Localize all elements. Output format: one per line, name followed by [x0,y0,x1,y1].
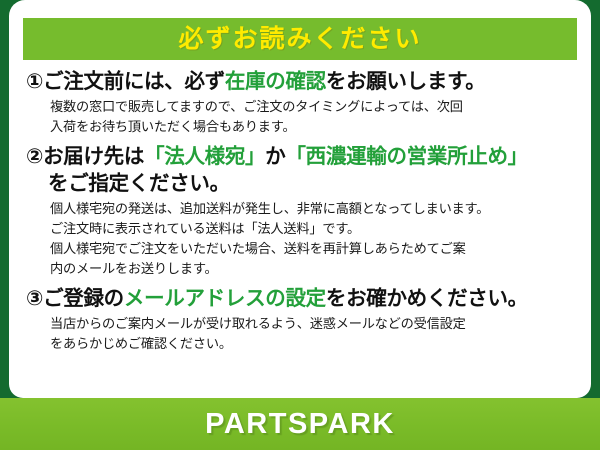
heading-text: をお願いします。 [326,70,486,93]
notice-item-body-line: 内のメールをお送りします。 [50,259,574,279]
notice-item-body-line: 複数の窓口で販売してますので、ご注文のタイミングによっては、次回 [50,97,574,117]
header-banner: 必ずお読みください [23,18,577,60]
notice-panel: 必ずお読みください ①ご注文前には、必ず在庫の確認をお願いします。複数の窓口で販… [9,0,591,398]
notice-item-body-line: 入荷をお待ち頂いただく場合もあります。 [50,117,574,137]
notice-item-marker: ① [26,70,43,93]
notice-item-body-line: 個人様宅宛でご注文をいただいた場合、送料を再計算しあらためてご案 [50,239,574,259]
notice-item-body-line: 個人様宅宛の発送は、追加送料が発生し、非常に高額となってしまいます。 [50,199,574,219]
highlighted-phrase: 在庫の確認 [225,70,326,93]
notice-item-heading-line-2: をご指定ください。 [26,171,574,197]
highlighted-phrase: 「法人様宛」 [144,145,265,168]
heading-text: をお確かめください。 [326,287,528,310]
notice-frame: 必ずお読みください ①ご注文前には、必ず在庫の確認をお願いします。複数の窓口で販… [0,0,600,450]
banner-title: 必ずお読みください [178,27,421,52]
highlighted-phrase: 「西濃運輸の営業所止め」 [285,145,527,168]
heading-text: か [265,145,285,168]
notice-item-heading: ②お届け先は「法人様宛」か「西濃運輸の営業所止め」をご指定ください。 [26,144,574,196]
notice-item-body-line: 当店からのご案内メールが受け取れるよう、迷惑メールなどの受信設定 [50,314,574,334]
notice-item-marker: ② [26,145,43,168]
notice-item: ①ご注文前には、必ず在庫の確認をお願いします。複数の窓口で販売してますので、ご注… [26,69,574,137]
heading-text: ご注文前には、必ず [43,70,225,93]
heading-text: お届け先は [43,145,144,168]
notice-item: ③ご登録のメールアドレスの設定をお確かめください。当店からのご案内メールが受け取… [26,286,574,354]
notice-item-body: 当店からのご案内メールが受け取れるよう、迷惑メールなどの受信設定をあらかじめご確… [26,312,574,354]
notice-item-body: 個人様宅宛の発送は、追加送料が発生し、非常に高額となってしまいます。ご注文時に表… [26,197,574,279]
notice-item-body: 複数の窓口で販売してますので、ご注文のタイミングによっては、次回入荷をお待ち頂い… [26,95,574,137]
notice-item-heading: ①ご注文前には、必ず在庫の確認をお願いします。 [26,69,574,95]
heading-text: ご登録の [43,287,124,310]
notice-item-body-line: をあらかじめご確認ください。 [50,334,574,354]
footer-bar: PARTSPARK [0,398,600,450]
highlighted-phrase: メールアドレスの設定 [124,287,326,310]
notice-item-heading: ③ご登録のメールアドレスの設定をお確かめください。 [26,286,574,312]
notice-item-marker: ③ [26,287,43,310]
notice-item-body-line: ご注文時に表示されている送料は「法人送料」です。 [50,219,574,239]
notice-items-list: ①ご注文前には、必ず在庫の確認をお願いします。複数の窓口で販売してますので、ご注… [23,60,577,354]
brand-logo-text: PARTSPARK [205,410,395,439]
notice-item: ②お届け先は「法人様宛」か「西濃運輸の営業所止め」をご指定ください。個人様宅宛の… [26,144,574,279]
